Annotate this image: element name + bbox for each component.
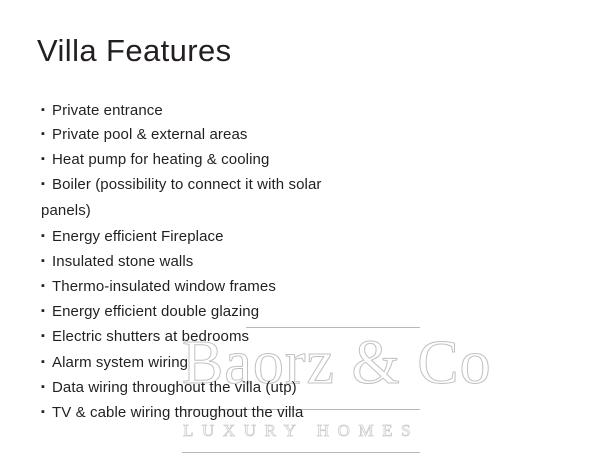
- watermark-tagline-text: LUXURY HOMES: [183, 421, 419, 441]
- feature-item-label: Electric shutters at bedrooms: [52, 328, 249, 345]
- list-item: ▪Private entrance: [41, 102, 163, 120]
- feature-item-label: Heat pump for heating & cooling: [52, 151, 269, 168]
- bullet-icon: ▪: [41, 331, 52, 342]
- feature-item-label: Thermo-insulated window frames: [52, 278, 276, 295]
- list-item: ▪Data wiring throughout the villa (utp): [41, 379, 297, 397]
- list-item: ▪Electric shutters at bedrooms: [41, 328, 249, 346]
- bullet-icon: ▪: [41, 129, 52, 140]
- bullet-icon: ▪: [41, 407, 52, 418]
- list-item: ▪Energy efficient Fireplace: [41, 228, 224, 246]
- slide-canvas: Villa Features Baorz & Co LUXURY HOMES ▪…: [0, 0, 600, 473]
- bullet-icon: ▪: [41, 179, 52, 190]
- bullet-icon: ▪: [41, 256, 52, 267]
- list-item: ▪Thermo-insulated window frames: [41, 278, 276, 296]
- page-title: Villa Features: [37, 34, 232, 68]
- feature-item-label: TV & cable wiring throughout the villa: [52, 404, 303, 421]
- bullet-icon: ▪: [41, 154, 52, 165]
- bullet-icon: ▪: [41, 281, 52, 292]
- feature-item-label: Private entrance: [52, 102, 163, 119]
- watermark-rule-top: [246, 327, 420, 328]
- bullet-icon: ▪: [41, 306, 52, 317]
- bullet-icon: ▪: [41, 231, 52, 242]
- feature-item-label: panels): [41, 202, 91, 219]
- list-item: ▪Boiler (possibility to connect it with …: [41, 176, 322, 194]
- bullet-icon: ▪: [41, 105, 52, 116]
- list-item: ▪Private pool & external areas: [41, 126, 248, 144]
- feature-item-label: Energy efficient Fireplace: [52, 228, 224, 245]
- list-item: ▪Heat pump for heating & cooling: [41, 151, 269, 169]
- list-item: ▪TV & cable wiring throughout the villa: [41, 404, 303, 422]
- feature-item-continuation: panels): [41, 202, 91, 220]
- watermark-rule-bottom: [182, 452, 420, 453]
- feature-item-label: Boiler (possibility to connect it with s…: [52, 176, 322, 193]
- feature-item-label: Energy efficient double glazing: [52, 303, 259, 320]
- list-item: ▪Insulated stone walls: [41, 253, 193, 271]
- feature-item-label: Private pool & external areas: [52, 126, 248, 143]
- list-item: ▪Energy efficient double glazing: [41, 303, 259, 321]
- feature-item-label: Data wiring throughout the villa (utp): [52, 379, 297, 396]
- bullet-icon: ▪: [41, 357, 52, 368]
- bullet-icon: ▪: [41, 382, 52, 393]
- feature-item-label: Insulated stone walls: [52, 253, 193, 270]
- list-item: ▪Alarm system wiring: [41, 354, 188, 372]
- feature-item-label: Alarm system wiring: [52, 354, 188, 371]
